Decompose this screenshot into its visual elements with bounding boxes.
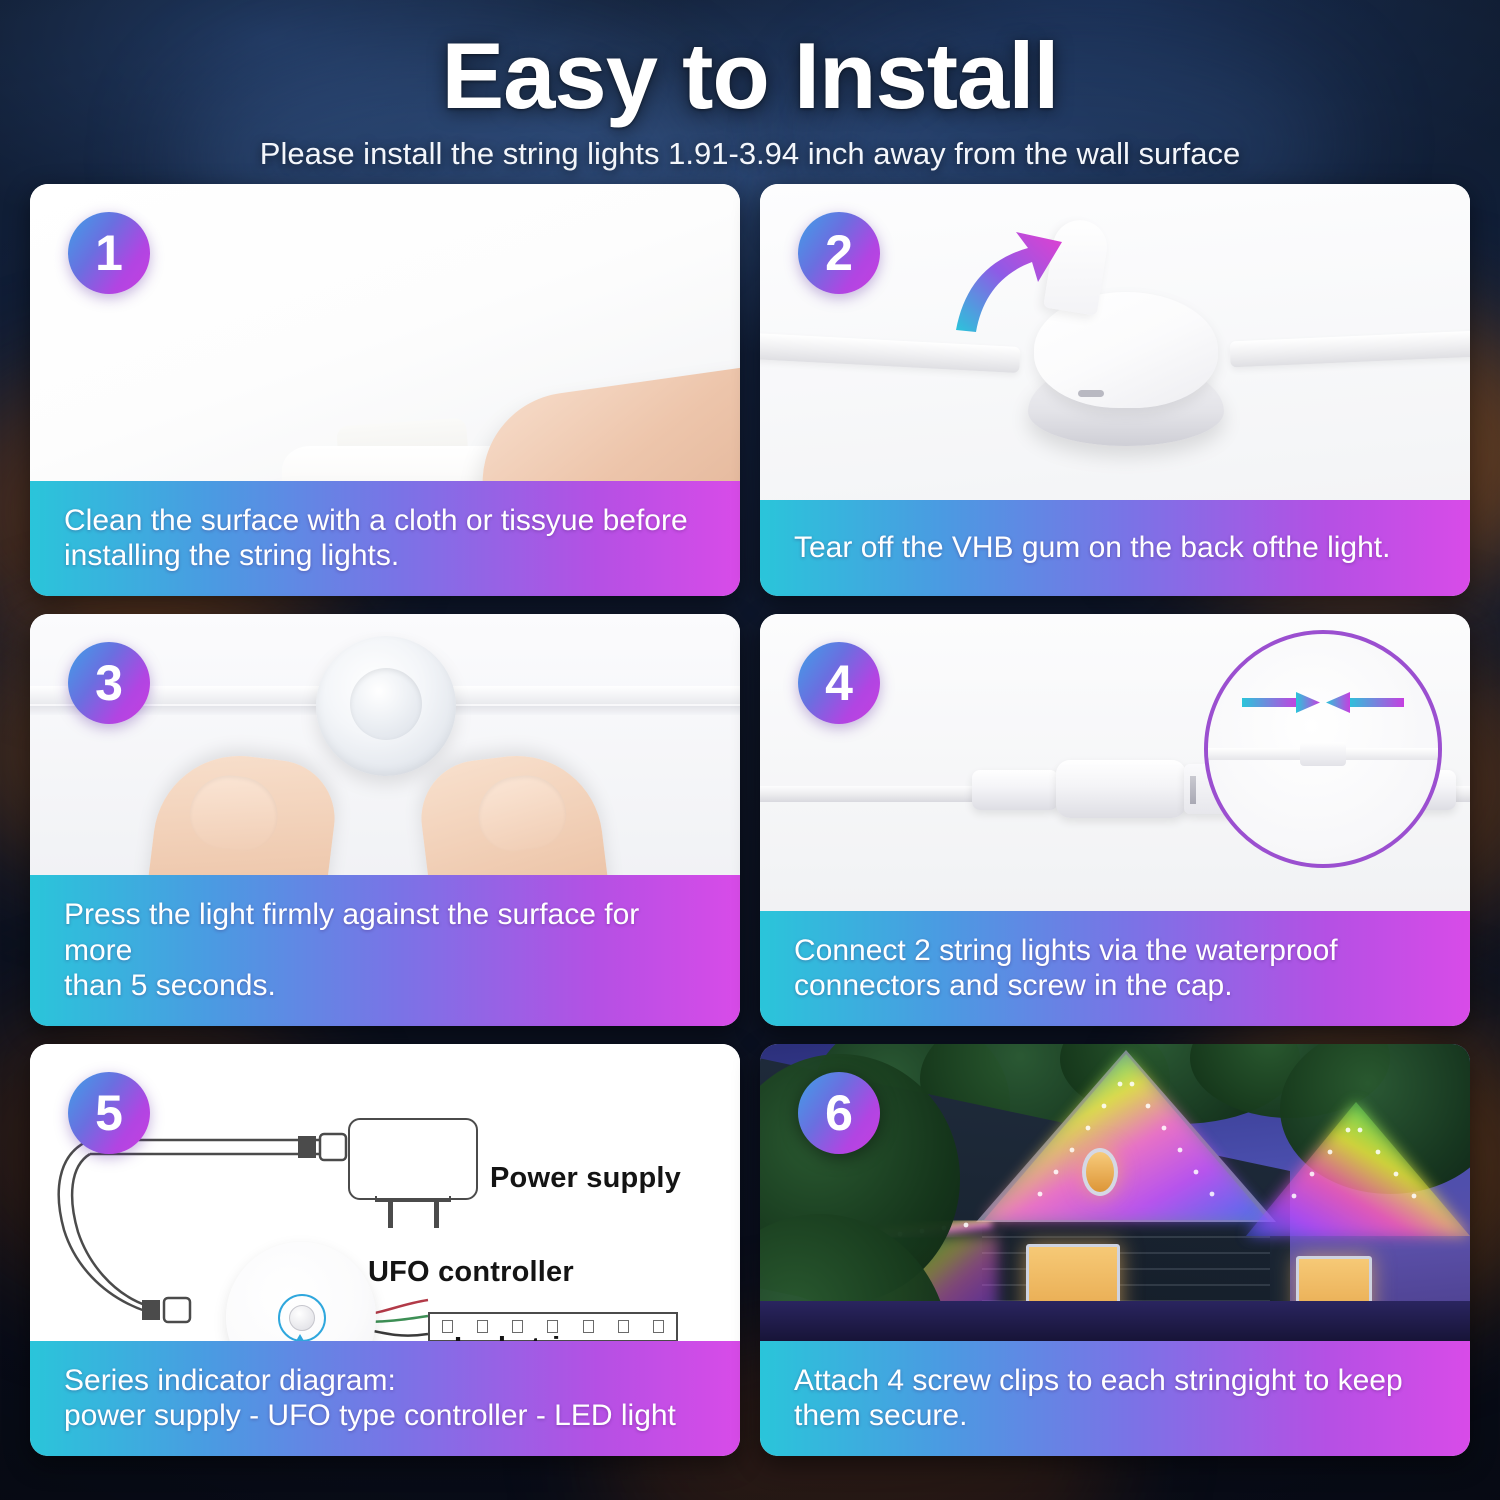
step-6-image: 6 [760,1044,1470,1341]
step-card-6: 6 Attach 4 screw clips to each stringigh… [760,1044,1470,1456]
step-1-caption-line2: installing the string lights. [64,538,688,573]
step-caption-4: Connect 2 string lights via the waterpro… [760,911,1470,1026]
connector-detail-inset [1204,630,1442,868]
page-subtitle: Please install the string lights 1.91-3.… [0,136,1500,172]
connector-body-left [1056,760,1186,818]
step-caption-6: Attach 4 screw clips to each stringight … [760,1341,1470,1456]
step-badge-1: 1 [68,212,150,294]
house-oval-window [1082,1148,1118,1196]
step-badge-4: 4 [798,642,880,724]
power-supply-prong [388,1200,393,1228]
step-card-1: 1 Clean the surface with a cloth or tiss… [30,184,740,596]
step-4-caption-line2: connectors and screw in the cap. [794,968,1338,1003]
led-chip [442,1320,453,1333]
inset-cable-right [1336,748,1442,760]
step-badge-2: 2 [798,212,880,294]
led-chip [618,1320,629,1333]
step-card-3: 3 Press the light firmly against the sur… [30,614,740,1026]
step-caption-3: Press the light firmly against the surfa… [30,875,740,1025]
step-caption-2: Tear off the VHB gum on the back ofthe l… [760,500,1470,596]
step-1-caption-line1: Clean the surface with a cloth or tissyu… [64,503,688,538]
power-supply-prong [434,1200,439,1228]
step-5-caption-line2: power supply - UFO type controller - LED… [64,1398,676,1433]
ufo-controller-label: UFO controller [368,1256,574,1289]
light-housing-slot [1078,390,1104,397]
power-supply-label: Power supply [490,1162,681,1195]
power-supply-foot [375,1196,451,1202]
ufo-indicator-led [289,1305,315,1331]
ground [760,1301,1470,1341]
inset-connector-tip-right [1308,742,1346,766]
step-2-image: 2 [760,184,1470,500]
arrow-left-icon [1326,690,1404,716]
step-card-4: 4 Connect 2 string lights via the waterp… [760,614,1470,1026]
step-4-caption-line1: Connect 2 string lights via the waterpro… [794,933,1338,968]
clear-led-light [316,636,456,776]
install-steps-grid: 1 Clean the surface with a cloth or tiss… [30,184,1470,1456]
step-3-image: 3 [30,614,740,876]
step-3-caption-line2: than 5 seconds. [64,968,710,1003]
step-6-caption-line2: them secure. [794,1398,1403,1433]
power-supply-body [348,1118,478,1200]
step-5-image: Power supply UFO controller Led string 5 [30,1044,740,1341]
step-card-5: Power supply UFO controller Led string 5… [30,1044,740,1456]
step-caption-1: Clean the surface with a cloth or tissyu… [30,481,740,596]
step-2-caption-line1: Tear off the VHB gum on the back ofthe l… [794,530,1390,565]
connector-ring [1190,776,1196,804]
step-3-caption-line1: Press the light firmly against the surfa… [64,897,710,968]
page-title: Easy to Install [0,26,1500,126]
step-6-caption-line1: Attach 4 screw clips to each stringight … [794,1363,1403,1398]
step-4-image: 4 [760,614,1470,911]
step-5-caption-line1: Series indicator diagram: [64,1363,676,1398]
step-badge-5: 5 [68,1072,150,1154]
page-header: Easy to Install Please install the strin… [0,0,1500,172]
step-badge-6: 6 [798,1072,880,1154]
arrow-right-icon [1242,690,1320,716]
connector-sleeve-left [972,770,1058,810]
step-badge-3: 3 [68,642,150,724]
led-chip [653,1320,664,1333]
step-1-image: 1 [30,184,740,481]
led-string-label: Led string [454,1332,596,1341]
step-caption-5: Series indicator diagram: power supply -… [30,1341,740,1456]
peel-direction-arrow-icon [942,226,1070,338]
step-card-2: 2 Tear off the VHB gum on the back ofthe… [760,184,1470,596]
inset-cable-left [1204,748,1310,760]
